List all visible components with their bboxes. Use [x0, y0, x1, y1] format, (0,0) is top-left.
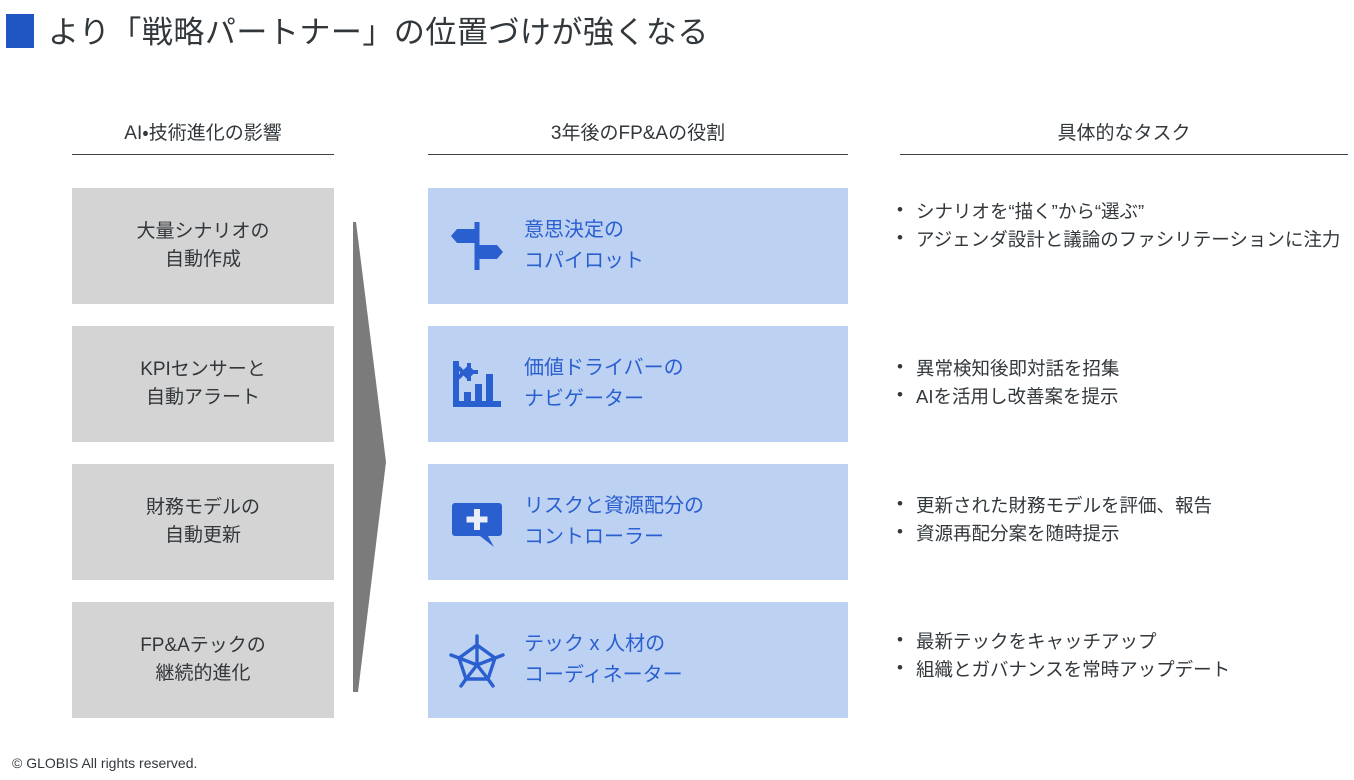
impact-card-2-line1: KPIセンサーと [140, 356, 266, 384]
page-title: より「戦略パートナー」の位置づけが強くなる [48, 7, 709, 52]
role-card-2: 価値ドライバーの ナビゲーター [428, 326, 848, 442]
list-item: 資源再配分案を随時提示 [894, 520, 1350, 548]
task-list-2: 異常検知後即対話を招集 AIを活用し改善案を提示 [894, 355, 1350, 411]
role-card-3-line1: リスクと資源配分の [524, 491, 704, 522]
bar-chart-insight-icon [444, 351, 510, 417]
task-list-3: 更新された財務モデルを評価、報告 資源再配分案を随時提示 [894, 492, 1350, 548]
impact-card-3-line1: 財務モデルの [146, 494, 260, 522]
role-card-3: リスクと資源配分の コントローラー [428, 464, 848, 580]
role-card-4-line2: コーディネーター [524, 660, 683, 691]
task-list-1: シナリオを“描く”から“選ぶ” アジェンダ設計と議論のファシリテーションに注力 [894, 198, 1350, 254]
impact-card-4: FP&Aテックの 継続的進化 [72, 602, 334, 718]
list-item: AIを活用し改善案を提示 [894, 383, 1350, 411]
impact-card-1-line1: 大量シナリオの [136, 218, 269, 246]
role-card-2-line1: 価値ドライバーの [524, 353, 684, 384]
copyright-footer: © GLOBIS All rights reserved. [12, 755, 197, 771]
role-card-3-line2: コントローラー [524, 522, 704, 553]
role-card-4-line1: テック x 人材の [524, 629, 683, 660]
role-card-1: 意思決定の コパイロット [428, 188, 848, 304]
column-header-tasks: 具体的なタスク [900, 118, 1348, 155]
impact-card-4-line2: 継続的進化 [140, 660, 266, 688]
list-item: 異常検知後即対話を招集 [894, 355, 1350, 383]
impact-card-3: 財務モデルの 自動更新 [72, 464, 334, 580]
column-header-impacts: AI・技術進化の影響 [72, 118, 334, 155]
list-item: 更新された財務モデルを評価、報告 [894, 492, 1350, 520]
task-list-4: 最新テックをキャッチアップ 組織とガバナンスを常時アップデート [894, 628, 1350, 684]
flow-arrow-icon [336, 222, 392, 692]
role-card-1-line1: 意思決定の [524, 215, 644, 246]
speech-bubble-plus-icon [444, 489, 510, 555]
list-item: 最新テックをキャッチアップ [894, 628, 1350, 656]
column-header-roles: 3年後のFP&Aの役割 [428, 118, 848, 155]
list-item: アジェンダ設計と議論のファシリテーションに注力 [894, 226, 1350, 254]
impact-card-3-line2: 自動更新 [146, 522, 260, 550]
pentagon-network-icon [444, 627, 510, 693]
role-card-4: テック x 人材の コーディネーター [428, 602, 848, 718]
role-card-1-line2: コパイロット [524, 246, 644, 277]
list-item: シナリオを“描く”から“選ぶ” [894, 198, 1350, 226]
impact-card-2-line2: 自動アラート [140, 384, 266, 412]
impact-card-4-line1: FP&Aテックの [140, 632, 266, 660]
role-card-2-line2: ナビゲーター [524, 384, 684, 415]
impact-card-1: 大量シナリオの 自動作成 [72, 188, 334, 304]
impact-card-1-line2: 自動作成 [136, 246, 269, 274]
slide-title-bar: より「戦略パートナー」の位置づけが強くなる [0, 0, 1354, 72]
impact-card-2: KPIセンサーと 自動アラート [72, 326, 334, 442]
signpost-icon [444, 213, 510, 279]
list-item: 組織とガバナンスを常時アップデート [894, 656, 1350, 684]
title-accent-block [6, 14, 34, 48]
